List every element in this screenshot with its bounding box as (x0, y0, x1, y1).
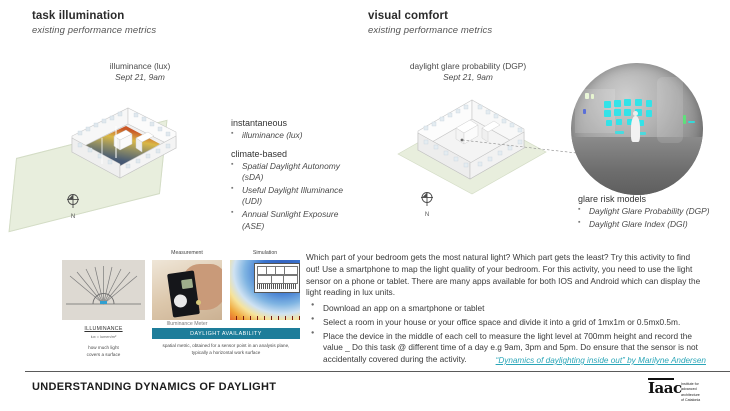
daylight-availability-figure: Measurement Illuminance Meter Simulation (62, 250, 300, 362)
glare-patch (616, 119, 622, 125)
group-heading-glare-risk-models: glare risk models (578, 194, 728, 204)
source-credit-link[interactable]: “Dynamics of daylighting inside out” by … (400, 356, 706, 365)
left-section-subtitle: existing performance metrics (32, 25, 156, 36)
left-figure-caption-line2: Sept 21, 9am (40, 72, 240, 82)
illuminance-desc-line2: covers a surface (62, 352, 145, 359)
list-item: Spatial Daylight Autonomy (sDA) (231, 161, 356, 184)
right-figure-caption-line1: daylight glare probability (DGP) (410, 61, 526, 71)
glare-patch (585, 93, 589, 99)
illuminance-rays-icon (62, 260, 145, 320)
glare-patch (591, 94, 594, 99)
glare-patch (646, 100, 652, 107)
list-item: illuminance (lux) (231, 130, 356, 141)
logo-line-4: of Catalonia (681, 398, 700, 403)
meter-caption: Illuminance Meter (152, 321, 222, 327)
glare-floor-reflection (615, 131, 624, 134)
glare-patch (614, 100, 621, 107)
group-heading-instantaneous: instantaneous (231, 118, 356, 128)
group-items-glare-risk-models: Daylight Glare Probability (DGP) Dayligh… (578, 206, 728, 230)
illuminance-label: ILLUMINANCE (62, 326, 145, 332)
floor-plan-overlay (254, 263, 300, 293)
measurement-photo (152, 260, 222, 320)
daylight-availability-banner: DAYLIGHT AVAILABILITY (152, 328, 300, 339)
illuminance-label-text: ILLUMINANCE (84, 326, 122, 332)
list-item: Daylight Glare Probability (DGP) (578, 206, 728, 217)
right-figure-caption-line2: Sept 21, 9am (368, 72, 568, 82)
footer-title: UNDERSTANDING DYNAMICS OF DAYLIGHT (32, 381, 276, 393)
daylight-availability-description: spatial metric, obtained for a sensor po… (150, 343, 302, 356)
compass-rose-right: N (416, 190, 438, 218)
slide-root: task illumination existing performance m… (0, 0, 730, 411)
group-items-instantaneous: illuminance (lux) (231, 130, 356, 141)
panel-title-measurement: Measurement (152, 250, 222, 256)
fisheye-glare-render (571, 63, 703, 195)
left-isometric-scene: N (10, 86, 235, 226)
glare-patch-green (683, 115, 686, 124)
illuminance-unit: lux = lumen/m² (62, 334, 145, 339)
left-figure-caption: illuminance (lux) Sept 21, 9am (40, 61, 240, 82)
panel-title-simulation: Simulation (230, 250, 300, 256)
glare-patch (688, 121, 695, 123)
list-item: Useful Daylight Illuminance (UDI) (231, 185, 356, 208)
glare-patch (604, 110, 611, 117)
heatmap-axis-ticks (230, 316, 300, 320)
ring (196, 300, 201, 305)
right-metrics-list: glare risk models Daylight Glare Probabi… (578, 194, 728, 232)
glare-patch (646, 110, 652, 117)
glare-patch (604, 101, 611, 108)
left-metrics-list: instantaneous illuminance (lux) climate-… (231, 118, 356, 233)
person-head (633, 111, 638, 116)
left-figure-caption-line1: illuminance (lux) (110, 61, 171, 71)
compass-icon (418, 190, 436, 208)
iaac-logo-word: Iaac (648, 381, 682, 396)
banner-desc-line2: typically a horizontal work surface (150, 350, 302, 357)
group-heading-climate-based: climate-based (231, 149, 356, 159)
plan-hatch (257, 284, 296, 289)
illuminance-desc-line1: how much light (62, 345, 145, 352)
iaac-logo: Iaac (648, 381, 682, 396)
meter-display (181, 279, 193, 289)
glare-patch (614, 109, 621, 116)
simulation-heatmap (230, 260, 300, 320)
right-figure-caption: daylight glare probability (DGP) Sept 21… (368, 61, 568, 82)
list-item: Daylight Glare Index (DGI) (578, 219, 728, 230)
group-items-climate-based: Spatial Daylight Autonomy (sDA) Useful D… (231, 161, 356, 232)
right-section-title: visual comfort (368, 10, 448, 22)
compass-rose-left: N (62, 192, 84, 220)
plan-cell (257, 275, 272, 284)
meter-sensor (173, 294, 188, 309)
iaac-logo-subtext: Institute for advanced architecture of C… (681, 382, 700, 404)
glare-patch (624, 109, 631, 116)
plan-cell (283, 275, 298, 284)
list-item: Annual Sunlight Exposure (ASE) (231, 209, 356, 232)
person-silhouette (631, 116, 640, 142)
compass-north-label: N (416, 212, 438, 218)
sphere-column-right (657, 77, 683, 143)
left-section-title: task illumination (32, 10, 124, 22)
banner-desc-line1: spatial metric, obtained for a sensor po… (150, 343, 302, 350)
list-item: Select a room in your house or your offi… (306, 317, 706, 329)
compass-icon (64, 192, 82, 210)
compass-north-label: N (62, 214, 84, 220)
glare-patch (635, 99, 642, 106)
activity-paragraph: Which part of your bedroom gets the most… (306, 252, 706, 299)
room-illuminance-render (10, 86, 235, 226)
glare-patch (583, 109, 586, 114)
glare-patch (606, 120, 612, 126)
activity-instructions: Which part of your bedroom gets the most… (306, 252, 706, 368)
list-item: Download an app on a smartphone or table… (306, 303, 706, 315)
right-section-subtitle: existing performance metrics (368, 25, 492, 36)
sphere-floor (571, 137, 703, 195)
illuminance-diagram (62, 260, 145, 320)
glare-patch (624, 99, 631, 106)
footer-divider (25, 371, 730, 372)
plan-cell (284, 266, 298, 275)
illuminance-description: how much light covers a surface (62, 345, 145, 358)
